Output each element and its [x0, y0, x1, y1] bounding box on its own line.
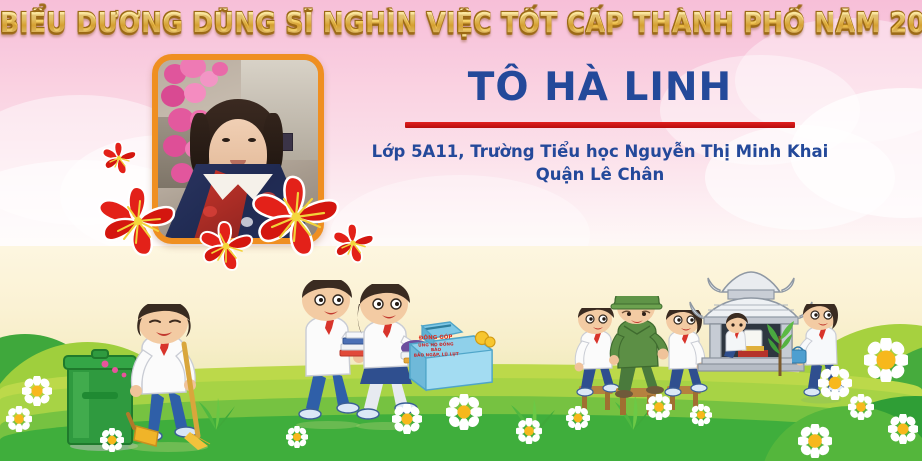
header-title-wrap: BIỂU DƯƠNG DŨNG SĨ NGHÌN VIỆC TỐT CẤP TH… — [0, 10, 922, 36]
phoenix-flower-tiny — [100, 141, 138, 180]
daisy-flower — [446, 394, 482, 435]
daisy-flower — [690, 404, 712, 431]
daisy-flower — [100, 428, 124, 457]
name-divider-rule — [405, 122, 795, 128]
daisy-flower — [566, 406, 590, 435]
daisy-flower — [848, 394, 874, 425]
daisy-flower — [516, 418, 542, 449]
award-poster: BIỂU DƯƠNG DŨNG SĨ NGHÌN VIỆC TỐT CẤP TH… — [0, 0, 922, 461]
honoree-school-info: Lớp 5A11, Trường Tiểu học Nguyễn Thị Min… — [350, 140, 850, 187]
donation-box-label: ĐÓNG GÓP ỦNG HỘ ĐỒNG BÀO BÃO NGẬP, LŨ LỤ… — [413, 334, 460, 358]
phoenix-flower-small — [196, 220, 256, 279]
pink-petal-sparkle — [97, 358, 129, 385]
daisy-flower — [646, 394, 672, 425]
illustration-scene: ĐÓNG GÓP ỦNG HỘ ĐỒNG BÀO BÃO NGẬP, LŨ LỤ… — [0, 246, 922, 461]
daisy-flower — [888, 414, 918, 449]
daisy-flower — [864, 338, 908, 387]
donation-box: ĐÓNG GÓP ỦNG HỘ ĐỒNG BÀO BÃO NGẬP, LŨ LỤ… — [404, 316, 496, 399]
daisy-flower — [798, 424, 832, 461]
phoenix-flower-tiny — [330, 222, 376, 269]
daisy-flower — [818, 366, 852, 405]
daisy-flower — [6, 406, 32, 437]
school-line: Lớp 5A11, Trường Tiểu học Nguyễn Thị Min… — [350, 140, 850, 163]
district-line: Quận Lê Chân — [350, 163, 850, 186]
daisy-flower — [392, 404, 422, 439]
sapling-plant — [760, 318, 800, 381]
poster-title: BIỂU DƯƠNG DŨNG SĨ NGHÌN VIỆC TỐT CẤP TH… — [0, 9, 922, 37]
honoree-name: TÔ HÀ LINH — [365, 68, 835, 109]
daisy-flower — [286, 426, 308, 453]
phoenix-flower-large — [96, 185, 180, 264]
